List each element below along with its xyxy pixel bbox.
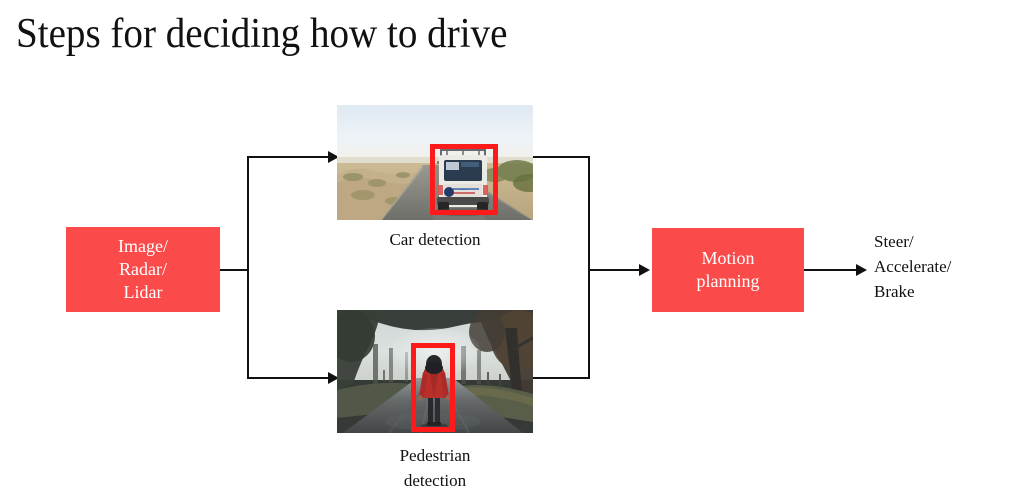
connector-motion-to-output (804, 269, 858, 271)
car-bounding-box (430, 144, 498, 215)
motion-planning-box[interactable]: Motion planning (652, 228, 804, 312)
slide-canvas: Steps for deciding how to drive Image/ R… (0, 0, 1036, 490)
input-box-line-1: Image/ (118, 235, 168, 258)
motion-box-line-1: Motion (701, 247, 754, 270)
car-caption-line-1: Car detection (337, 227, 533, 252)
connector-split-vertical (247, 156, 249, 379)
output-line-3: Brake (874, 279, 951, 304)
connector-car-to-merge (533, 156, 590, 158)
arrowhead-to-output-icon (856, 264, 867, 276)
connector-split-to-pedestrian (247, 377, 331, 379)
motion-box-line-2: planning (697, 270, 760, 293)
car-detection-image[interactable]: ⎯⎯⎯ (337, 105, 533, 220)
input-box-line-2: Radar/ (119, 258, 167, 281)
output-line-1: Steer/ (874, 229, 951, 254)
pedestrian-caption-line-1: Pedestrian (337, 443, 533, 468)
output-line-2: Accelerate/ (874, 254, 951, 279)
page-title: Steps for deciding how to drive (16, 8, 507, 60)
arrowhead-to-motion-planning-icon (639, 264, 650, 276)
input-sensors-box[interactable]: Image/ Radar/ Lidar (66, 227, 220, 312)
car-detection-caption: Car detection (337, 227, 533, 252)
pedestrian-bounding-box (411, 343, 455, 432)
connector-pedestrian-to-merge (533, 377, 590, 379)
input-box-line-3: Lidar (124, 281, 163, 304)
pedestrian-detection-image[interactable] (337, 310, 533, 433)
connector-merge-vertical (588, 156, 590, 379)
connector-input-to-split (220, 269, 249, 271)
pedestrian-detection-caption: Pedestrian detection (337, 443, 533, 493)
connector-split-to-car (247, 156, 331, 158)
output-actions-text: Steer/ Accelerate/ Brake (874, 229, 951, 304)
connector-merge-to-motion (588, 269, 641, 271)
pedestrian-caption-line-2: detection (337, 468, 533, 493)
